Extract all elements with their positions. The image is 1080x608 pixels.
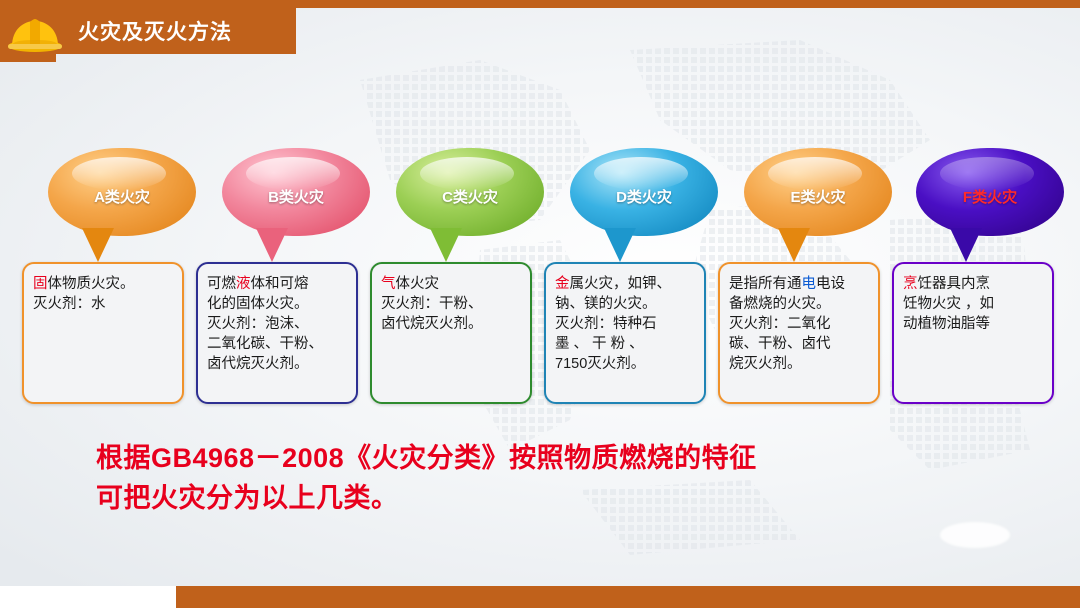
card-e-line-2: 备燃烧的火灾。 [729, 294, 869, 314]
card-e-line-1: 是指所有通电电设 [729, 274, 869, 294]
card-a-line-2: 灭火剂：水 [33, 294, 173, 314]
bubble-e-tail [778, 228, 810, 262]
bottom-orange-bar [176, 586, 1080, 608]
card-a-line-1: 固体物质火灾。 [33, 274, 173, 294]
card-e-line-4: 碳、干粉、卤代 [729, 334, 869, 354]
card-f: 烹饪器具内烹 饪物火灾 ，如 动植物油脂等 [892, 262, 1054, 404]
card-b-line-1: 可燃液体和可熔 [207, 274, 347, 294]
card-b-line-3: 灭火剂：泡沫、 [207, 314, 347, 334]
card-d: 金属火灾，如钾、 钠、镁的火灾。 灭火剂：特种石 墨 、 干 粉 、 7150灭… [544, 262, 706, 404]
card-e: 是指所有通电电设 备燃烧的火灾。 灭火剂：二氧化 碳、干粉、卤代 烷灭火剂。 [718, 262, 880, 404]
footer-note-line-1: 根据GB4968－2008《火灾分类》按照物质燃烧的特征 [96, 438, 996, 478]
bubble-d[interactable]: D类火灾 [570, 148, 718, 236]
footer-note-line-2: 可把火灾分为以上几类。 [96, 478, 996, 518]
card-b-line-2: 化的固体火灾。 [207, 294, 347, 314]
card-a: 固体物质火灾。 灭火剂：水 [22, 262, 184, 404]
bubble-a-tail [82, 228, 114, 262]
bubble-a[interactable]: A类火灾 [48, 148, 196, 236]
bubble-b[interactable]: B类火灾 [222, 148, 370, 236]
bubble-c-tail [430, 228, 462, 262]
bubble-f-label: F类火灾 [963, 186, 1017, 207]
footer-note: 根据GB4968－2008《火灾分类》按照物质燃烧的特征 可把火灾分为以上几类。 [96, 438, 996, 518]
card-d-line-1: 金属火灾，如钾、 [555, 274, 695, 294]
card-c-line-1: 气体火灾 [381, 274, 521, 294]
card-c: 气体火灾 灭火剂：干粉、 卤代烷灭火剂。 [370, 262, 532, 404]
bubble-f[interactable]: F类火灾 [916, 148, 1064, 236]
card-e-line-3: 灭火剂：二氧化 [729, 314, 869, 334]
card-d-line-2: 钠、镁的火灾。 [555, 294, 695, 314]
bubble-a-label: A类火灾 [94, 186, 150, 207]
card-b-line-5: 卤代烷灭火剂。 [207, 354, 347, 374]
card-b: 可燃液体和可熔 化的固体火灾。 灭火剂：泡沫、 二氧化碳、干粉、 卤代烷灭火剂。 [196, 262, 358, 404]
highlight-ellipse-decoration [940, 522, 1010, 548]
bubble-f-tail [950, 228, 982, 262]
bubble-e-label: E类火灾 [790, 186, 845, 207]
card-e-line-5: 烷灭火剂。 [729, 354, 869, 374]
card-c-line-3: 卤代烷灭火剂。 [381, 314, 521, 334]
bubble-d-label: D类火灾 [616, 186, 672, 207]
bubble-b-tail [256, 228, 288, 262]
bubble-c-label: C类火灾 [442, 186, 498, 207]
bubble-d-tail [604, 228, 636, 262]
bubble-c[interactable]: C类火灾 [396, 148, 544, 236]
card-b-line-4: 二氧化碳、干粉、 [207, 334, 347, 354]
card-d-line-3: 灭火剂：特种石 [555, 314, 695, 334]
card-f-line-1: 烹饪器具内烹 [903, 274, 1043, 294]
card-d-line-5: 7150灭火剂。 [555, 354, 695, 374]
bubble-e[interactable]: E类火灾 [744, 148, 892, 236]
card-f-line-2: 饪物火灾 ，如 [903, 294, 1043, 314]
bubble-b-label: B类火灾 [268, 186, 324, 207]
card-f-line-3: 动植物油脂等 [903, 314, 1043, 334]
card-c-line-2: 灭火剂：干粉、 [381, 294, 521, 314]
card-d-line-4: 墨 、 干 粉 、 [555, 334, 695, 354]
